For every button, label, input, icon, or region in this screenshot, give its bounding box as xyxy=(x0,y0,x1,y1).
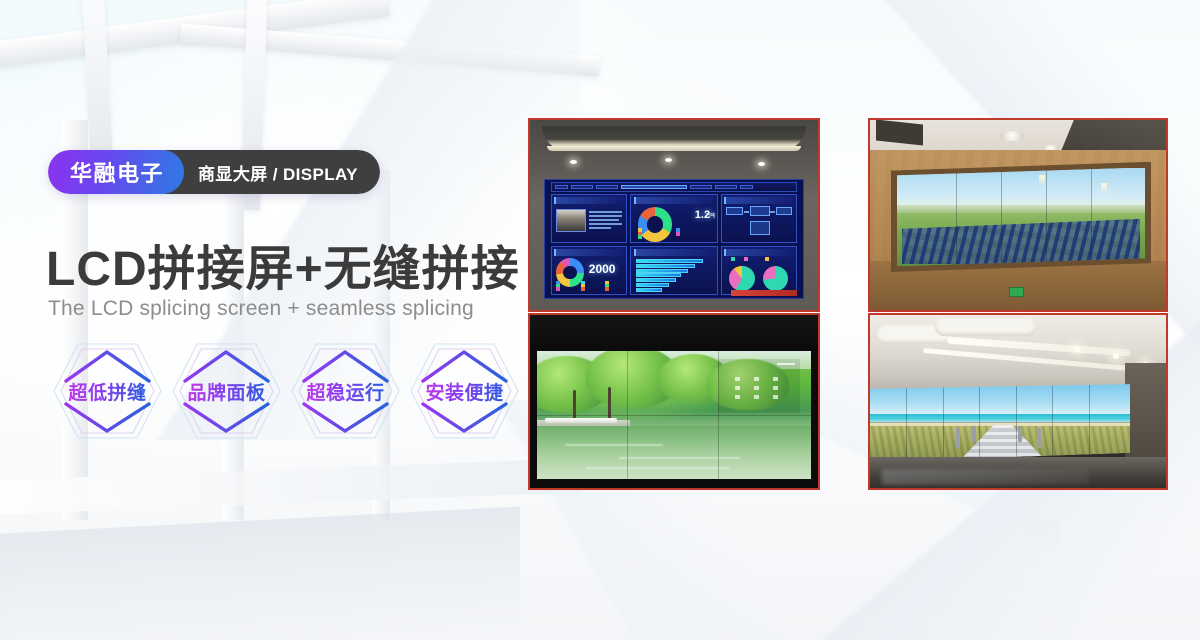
floor-reflection xyxy=(882,469,1089,485)
panel-seam xyxy=(537,415,811,416)
legend-swatch xyxy=(605,287,609,291)
dashboard-panel-pies xyxy=(721,246,797,295)
sky-region xyxy=(870,384,1130,415)
railing-post xyxy=(1018,426,1022,442)
panel-text-line xyxy=(589,211,622,213)
flow-node xyxy=(776,207,792,215)
calendar-cell xyxy=(773,386,778,390)
solar-farm-video-wall-photo[interactable] xyxy=(868,118,1168,312)
dashboard-topbar xyxy=(551,182,798,191)
product-banner: 华融电子 商显大屏 / DISPLAY LCD拼接屏+无缝拼接 The LCD … xyxy=(0,0,1200,640)
railing-post xyxy=(956,428,960,448)
panel-text-line xyxy=(589,227,611,229)
panel-seam xyxy=(1089,384,1090,462)
panel-text-line xyxy=(589,219,619,221)
wall-lamp xyxy=(1039,175,1045,187)
bar-item xyxy=(636,278,676,282)
calendar-cell xyxy=(754,386,759,390)
photo-scene xyxy=(870,315,1166,488)
dashboard-panel-bars xyxy=(630,246,718,295)
water-ripple xyxy=(619,457,739,459)
feature-badge: 品牌面板 xyxy=(167,336,286,446)
panel-text-line xyxy=(589,215,622,217)
panel-seam xyxy=(956,168,957,267)
dashboard-watermark xyxy=(731,290,798,296)
bar-item xyxy=(636,264,694,268)
panel-text-line xyxy=(589,223,622,225)
panel-seam xyxy=(1052,384,1053,462)
panel-header xyxy=(724,197,794,204)
photo-gallery: 1.2 万吨 xyxy=(528,118,1168,490)
ceiling-rim xyxy=(547,146,800,152)
text-column: 华融电子 商显大屏 / DISPLAY LCD拼接屏+无缝拼接 The LCD … xyxy=(0,0,520,640)
bar-item xyxy=(636,273,681,277)
panel-seam xyxy=(943,384,944,462)
calendar-cell xyxy=(735,386,740,390)
video-wall-screen: 1.2 万吨 xyxy=(544,179,803,299)
ceiling-cove xyxy=(935,318,1036,335)
panel-seam xyxy=(1016,384,1017,462)
video-wall-screen xyxy=(870,384,1130,462)
brand-category-chip: 商显大屏 / DISPLAY xyxy=(164,150,380,194)
video-wall-screen xyxy=(897,168,1146,267)
legend-swatch xyxy=(676,232,680,236)
dashboard-nav-chip xyxy=(571,185,593,190)
dashboard-video-wall-photo[interactable]: 1.2 万吨 xyxy=(528,118,820,312)
feature-badge-list: 超低拼缝 品牌面板 超稳运行 xyxy=(48,336,524,446)
lake-water xyxy=(537,426,811,480)
side-wall xyxy=(1125,363,1166,470)
water-ripple xyxy=(586,467,728,469)
water-ripple xyxy=(565,444,663,446)
panel-thumbnail xyxy=(556,209,586,232)
ceiling-downlight xyxy=(1113,353,1119,359)
panel-header xyxy=(554,197,624,204)
calendar-cell xyxy=(754,395,759,399)
panel-header xyxy=(634,249,715,256)
calendar-cell xyxy=(773,395,778,399)
panel-header xyxy=(554,249,624,256)
dashboard-nav-chip xyxy=(740,185,753,190)
legend-swatch xyxy=(581,287,585,291)
calendar-cell xyxy=(773,377,778,381)
feature-badge-label: 安装便捷 xyxy=(425,378,503,405)
feature-badge-label: 超低拼缝 xyxy=(68,378,146,405)
ceiling-light xyxy=(1000,131,1024,141)
upper-bezel xyxy=(530,315,818,351)
metric-value: 2000 xyxy=(589,262,616,276)
brand-category: 商显大屏 / DISPLAY xyxy=(198,160,358,185)
brand-badge: 华融电子 商显大屏 / DISPLAY xyxy=(48,150,380,194)
bar-item xyxy=(636,269,688,273)
panel-header xyxy=(634,197,715,204)
panel-seam xyxy=(979,384,980,462)
panel-header xyxy=(724,249,794,256)
dashboard-panel-flow xyxy=(721,194,797,243)
brand-name-chip: 华融电子 xyxy=(48,150,184,194)
exit-sign-icon xyxy=(1009,287,1024,297)
feature-badge-label: 超稳运行 xyxy=(306,378,384,405)
panel-seam xyxy=(1001,168,1002,267)
beach-boardwalk-video-wall-photo[interactable] xyxy=(868,313,1168,490)
calendar-cell xyxy=(754,377,759,381)
legend-swatch xyxy=(744,257,748,261)
feature-badge-label: 品牌面板 xyxy=(187,378,265,405)
ceiling-spotlight xyxy=(758,162,765,166)
pie-chart xyxy=(763,266,788,291)
wall-lamp xyxy=(1101,183,1107,195)
metric-unit: 万吨 xyxy=(705,212,715,219)
donut-chart xyxy=(638,207,672,241)
photo-scene xyxy=(530,315,818,488)
legend-swatch xyxy=(556,287,560,291)
flow-node xyxy=(750,206,769,215)
flow-node xyxy=(750,221,769,235)
flow-link xyxy=(744,211,749,213)
panel-seam xyxy=(1091,168,1092,267)
dashboard-panel-intro xyxy=(551,194,627,243)
brand-name: 华融电子 xyxy=(70,156,164,188)
page-subtitle: The LCD splicing screen + seamless splic… xyxy=(48,297,474,321)
panel-seam xyxy=(870,422,1130,423)
white-railing xyxy=(545,418,616,423)
pie-chart xyxy=(729,266,754,291)
flow-node xyxy=(726,207,742,215)
dashboard-nav-chip xyxy=(715,185,737,190)
bar-item xyxy=(636,288,662,292)
dashboard-timestamp xyxy=(555,185,568,190)
calendar-cell xyxy=(735,395,740,399)
feature-badge: 安装便捷 xyxy=(405,336,524,446)
legend-swatch xyxy=(731,257,735,261)
legend-swatch xyxy=(638,235,642,239)
railing-post xyxy=(972,426,976,442)
dashboard-panel-donut: 1.2 万吨 xyxy=(630,194,718,243)
railing-post xyxy=(1037,428,1041,448)
dashboard-nav-chip xyxy=(690,185,712,190)
donut-chart xyxy=(556,258,584,286)
dashboard-panel-grid: 1.2 万吨 xyxy=(551,194,798,295)
dashboard-nav-chip xyxy=(596,185,618,190)
willow-lake-video-wall-photo[interactable] xyxy=(528,313,820,490)
bar-item xyxy=(636,259,703,263)
video-wall-screen xyxy=(537,351,811,479)
page-title: LCD拼接屏+无缝拼接 xyxy=(46,229,520,299)
feature-badge: 超低拼缝 xyxy=(48,336,167,446)
bar-item xyxy=(636,283,669,287)
panel-seam xyxy=(906,384,907,462)
photo-scene: 1.2 万吨 xyxy=(530,120,818,310)
panel-seam xyxy=(1046,168,1047,267)
photo-scene xyxy=(870,120,1166,310)
dashboard-title-chip xyxy=(621,185,687,190)
calendar-cell xyxy=(735,377,740,381)
legend-swatch xyxy=(765,257,769,261)
feature-badge: 超稳运行 xyxy=(286,336,405,446)
dashboard-panel-donut2: 2000 xyxy=(551,246,627,295)
calendar-title xyxy=(777,363,795,366)
flow-link xyxy=(770,211,774,213)
